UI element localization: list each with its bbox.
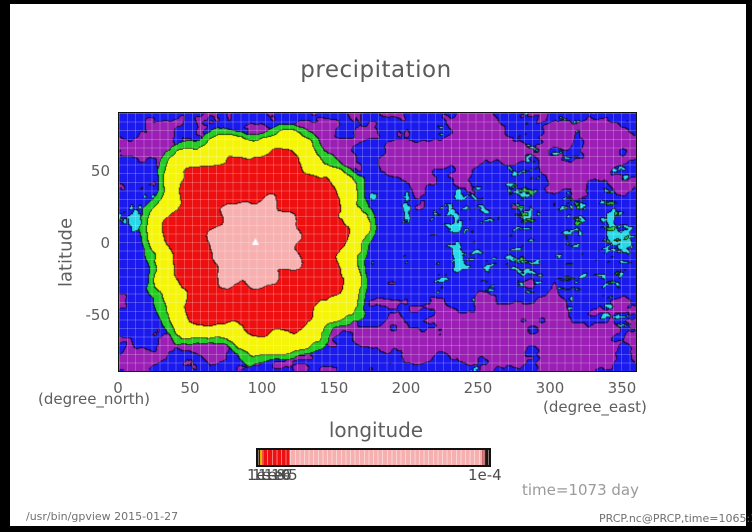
frame-edge-bottom xyxy=(0,526,752,532)
y-tick-label: 0 xyxy=(75,234,110,252)
x-axis-unit: (degree_east) xyxy=(543,398,647,416)
frame-edge-top xyxy=(0,0,752,4)
x-tick-label: 150 xyxy=(320,379,349,397)
y-axis-unit: (degree_north) xyxy=(38,390,150,408)
colorbar xyxy=(256,448,491,467)
x-tick-label: 200 xyxy=(392,379,421,397)
colorbar-canvas xyxy=(258,450,489,465)
colorbar-max-label: 1e-4 xyxy=(468,466,502,484)
footer-command: /usr/bin/gpview 2015-01-27 xyxy=(26,510,178,523)
x-tick-label: 50 xyxy=(180,379,199,397)
y-axis-label: latitude xyxy=(56,183,77,323)
footer-datasource: PRCP.nc@PRCP,time=1065:1095 xyxy=(599,512,752,525)
time-annotation: time=1073 day xyxy=(522,481,639,499)
page-title: precipitation xyxy=(0,57,752,83)
x-tick-label: 350 xyxy=(608,379,637,397)
y-tick-label: -50 xyxy=(68,306,110,324)
x-tick-label: 300 xyxy=(536,379,565,397)
x-axis-label: longitude xyxy=(0,418,752,442)
y-tick-label: 50 xyxy=(75,162,110,180)
x-tick-label: 250 xyxy=(464,379,493,397)
x-tick-label: 100 xyxy=(248,379,277,397)
contour-canvas xyxy=(119,113,636,371)
colorbar-tick-label: 1e-5 xyxy=(264,466,298,484)
contour-map xyxy=(118,112,637,372)
